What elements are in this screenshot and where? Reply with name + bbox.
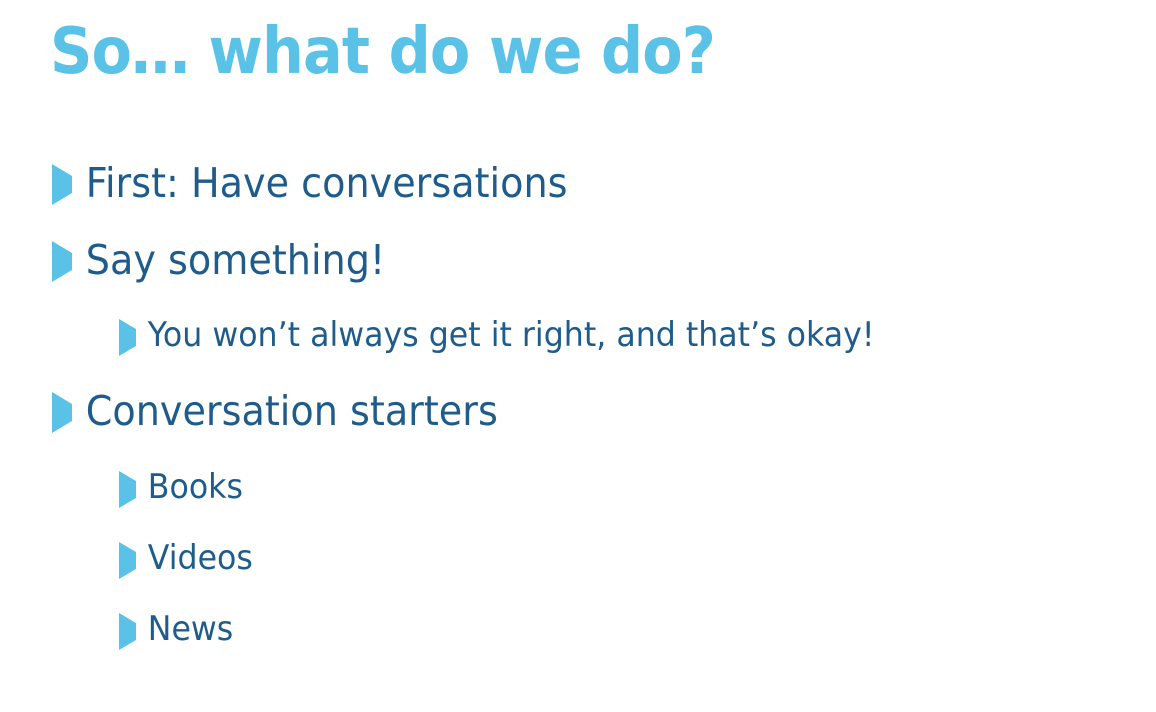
triangle-right-icon	[52, 253, 83, 271]
triangle-right-icon	[119, 552, 145, 570]
bullet-text: News	[145, 606, 233, 652]
bullet-text: Conversation starters	[83, 386, 498, 436]
bullet-item-news: News	[0, 606, 1156, 677]
triangle-right-icon	[52, 176, 83, 194]
bullet-item-you-wont-always-get-it-right: You won’t always get it right, and that’…	[0, 312, 1156, 385]
bullet-item-videos: Videos	[0, 535, 1156, 606]
bullet-text: You won’t always get it right, and that’…	[145, 312, 875, 358]
bullet-item-say-something: Say something!	[0, 235, 1156, 312]
slide-title: So… what do we do?	[50, 18, 1016, 87]
bullet-list: First: Have conversations Say something!…	[0, 158, 1156, 677]
triangle-right-icon	[119, 329, 145, 347]
triangle-right-icon	[119, 623, 145, 641]
triangle-right-icon	[119, 481, 145, 499]
bullet-text: First: Have conversations	[83, 158, 567, 208]
bullet-text: Books	[145, 464, 243, 510]
bullet-text: Say something!	[83, 235, 385, 285]
bullet-item-first-have-conversations: First: Have conversations	[0, 158, 1156, 235]
triangle-right-icon	[52, 404, 83, 422]
presentation-slide: So… what do we do? First: Have conversat…	[0, 0, 1156, 712]
bullet-item-books: Books	[0, 464, 1156, 535]
bullet-text: Videos	[145, 535, 253, 581]
bullet-item-conversation-starters: Conversation starters	[0, 386, 1156, 463]
